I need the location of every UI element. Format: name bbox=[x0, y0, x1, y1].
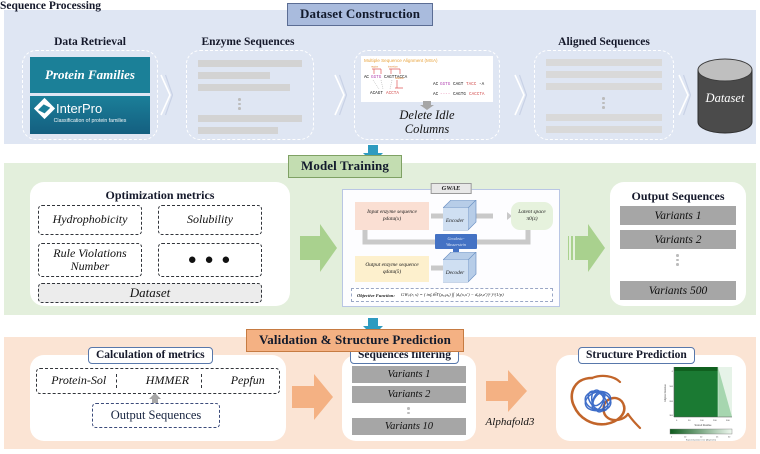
output-variant-chip[interactable]: Variants 500 bbox=[620, 281, 736, 300]
input-line2: pdata(x) bbox=[383, 216, 401, 223]
svg-text:0: 0 bbox=[671, 437, 673, 439]
svg-text:TACC: TACC bbox=[466, 82, 477, 87]
svg-text:Decoder: Decoder bbox=[445, 270, 465, 276]
objective-function-formula: GWₚ(r, s) = ( infᵣ∈Γ(μₓ,μᵩ) ∫∫ |dₓ(x,x′)… bbox=[401, 292, 504, 298]
svg-text:CAGT: CAGT bbox=[453, 82, 464, 87]
interpro-name: InterPro bbox=[56, 101, 102, 116]
filtered-variant-chip[interactable]: Variants 1 bbox=[352, 366, 466, 383]
svg-text:Aligned Residue: Aligned Residue bbox=[664, 384, 667, 402]
svg-text:AC: AC bbox=[433, 82, 439, 87]
title-calculation-of-metrics: Calculation of metrics bbox=[88, 347, 213, 364]
input-line1: Input enzyme sequence bbox=[367, 209, 417, 216]
diagram-canvas: Dataset Construction Data Retrieval Enzy… bbox=[0, 0, 760, 454]
svg-text:----: ---- bbox=[440, 92, 450, 97]
separator-chevron-2 bbox=[334, 72, 347, 118]
filtered-variant-chip[interactable]: Variants 2 bbox=[352, 386, 466, 403]
banner-validation-structure-prediction: Validation & Structure Prediction bbox=[246, 329, 464, 352]
svg-text:region: region bbox=[371, 64, 379, 68]
separator-chevron-4 bbox=[678, 72, 691, 118]
metric-solubility[interactable]: Solubility bbox=[158, 205, 262, 235]
filtered-variant-label: Variants 1 bbox=[388, 369, 431, 380]
title-structure-prediction: Structure Prediction bbox=[578, 347, 695, 364]
column-title-data-retrieval: Data Retrieval bbox=[28, 36, 152, 48]
dataset-cylinder: Dataset bbox=[696, 56, 754, 138]
svg-text:200: 200 bbox=[713, 420, 717, 422]
filtered-variant-chip[interactable]: Variants 10 bbox=[352, 418, 466, 435]
calculation-input-output-sequences[interactable]: Output Sequences bbox=[92, 403, 220, 428]
output-variant-chip[interactable]: Variants 1 bbox=[620, 206, 736, 225]
gw-line2: Wasserstein bbox=[446, 242, 466, 247]
output-line1: Output enzyme sequence bbox=[365, 262, 418, 269]
vertical-ellipsis-icon bbox=[238, 98, 241, 110]
tool-hmmer[interactable]: HMMER bbox=[146, 374, 202, 387]
svg-text:100: 100 bbox=[669, 386, 673, 388]
sequence-bar bbox=[198, 115, 302, 122]
banner-dataset-construction: Dataset Construction bbox=[287, 3, 433, 26]
svg-text:100: 100 bbox=[700, 420, 704, 422]
svg-text:0: 0 bbox=[676, 420, 678, 422]
svg-text:Encoder: Encoder bbox=[445, 218, 465, 224]
optimization-dataset-label: Dataset bbox=[130, 285, 170, 301]
green-block-arrow-right-icon-1 bbox=[300, 222, 338, 274]
filtered-variant-label: Variants 10 bbox=[385, 421, 433, 432]
delete-idle-columns-label: Delete Idle Columns bbox=[354, 108, 500, 137]
alphafold-tool-label: Alphafold3 bbox=[473, 416, 547, 428]
node-geodesic-wasserstein: Geodesic- Wasserstein bbox=[435, 234, 477, 249]
metric-hydrophobicity-label: Hydrophobicity bbox=[53, 213, 128, 226]
svg-text:CACCTA: CACCTA bbox=[469, 92, 485, 97]
aligned-bar bbox=[546, 59, 662, 66]
metric-hydrophobicity[interactable]: Hydrophobicity bbox=[38, 205, 142, 235]
output-variant-label: Variants 2 bbox=[655, 234, 702, 246]
svg-text:Expected position error (Angst: Expected position error (Angstroms) bbox=[686, 439, 717, 442]
logo-protein-families[interactable]: Protein Families bbox=[30, 57, 150, 93]
svg-text:GGTG: GGTG bbox=[371, 75, 382, 80]
aligned-bar bbox=[546, 83, 662, 90]
output-variant-label: Variants 1 bbox=[655, 210, 702, 222]
node-latent-space: Latent space π0(z) bbox=[511, 202, 553, 230]
metric-more-placeholder[interactable]: ● ● ● bbox=[158, 243, 262, 277]
orange-block-arrow-right-icon-1 bbox=[292, 372, 334, 422]
decoder-cube-icon: Decoder bbox=[443, 252, 477, 284]
column-title-aligned-sequences: Aligned Sequences bbox=[530, 36, 678, 48]
svg-text:insertion: insertion bbox=[388, 64, 398, 68]
metric-dots: ● ● ● bbox=[188, 252, 233, 269]
metric-rule-line2: Number bbox=[71, 260, 110, 273]
pae-heatmap-icon: 0 100 200 300 050 100200300 Scored Resid… bbox=[660, 363, 740, 441]
node-output-enzyme-sequence: Output enzyme sequence qdata(̂x) bbox=[355, 256, 429, 282]
vertical-ellipsis-icon bbox=[407, 407, 410, 414]
svg-text:CAGTG: CAGTG bbox=[453, 92, 466, 97]
svg-text:0: 0 bbox=[672, 371, 674, 373]
tool-pepfun[interactable]: Pepfun bbox=[231, 374, 265, 387]
separator-chevron-1 bbox=[160, 72, 173, 118]
output-variant-chip[interactable]: Variants 2 bbox=[620, 230, 736, 249]
title-output-sequences: Output Sequences bbox=[610, 189, 746, 204]
banner-model-training: Model Training bbox=[288, 155, 402, 178]
svg-text:200: 200 bbox=[669, 401, 673, 403]
objective-function-label: Objective Function: bbox=[357, 293, 395, 298]
interpro-diamond-icon bbox=[34, 98, 55, 119]
delete-idle-line1: Delete Idle bbox=[354, 108, 500, 122]
separator-chevron-3 bbox=[514, 72, 527, 118]
tool-protein-sol[interactable]: Protein-Sol bbox=[51, 374, 117, 387]
protein-families-label: Protein Families bbox=[45, 67, 135, 83]
sequence-bar bbox=[198, 72, 270, 79]
title-optimization-metrics: Optimization metrics bbox=[30, 188, 290, 203]
msa-illustration: Multiple Sequence Alignment (MSA) AC GGT… bbox=[361, 56, 493, 102]
svg-text:-A: -A bbox=[479, 82, 485, 87]
grey-up-arrow-icon bbox=[148, 393, 162, 403]
svg-text:deletion: deletion bbox=[395, 76, 405, 80]
svg-text:AC: AC bbox=[364, 75, 369, 80]
node-input-enzyme-sequence: Input enzyme sequence pdata(x) bbox=[355, 202, 429, 230]
svg-text:30: 30 bbox=[728, 437, 731, 439]
sequence-bar bbox=[198, 60, 302, 67]
svg-text:50: 50 bbox=[688, 420, 691, 422]
output-variant-label: Variants 500 bbox=[649, 285, 707, 297]
delete-idle-line2: Columns bbox=[354, 122, 500, 136]
svg-text:ACCTA: ACCTA bbox=[386, 91, 399, 96]
vertical-ellipsis-icon bbox=[676, 254, 679, 266]
latent-line1: Latent space bbox=[518, 209, 545, 216]
svg-text:ACAGT: ACAGT bbox=[370, 91, 383, 96]
latent-line2: π0(z) bbox=[526, 216, 537, 223]
filtered-variant-label: Variants 2 bbox=[388, 389, 431, 400]
svg-text:300: 300 bbox=[726, 420, 730, 422]
svg-text:25: 25 bbox=[716, 437, 719, 439]
logo-interpro[interactable]: InterPro Classification of protein famil… bbox=[30, 96, 150, 134]
objective-function-row: Objective Function: GWₚ(r, s) = ( infᵣ∈Γ… bbox=[351, 288, 553, 302]
metrics-tools-group: Protein-Sol HMMER Pepfun bbox=[36, 368, 280, 394]
gwae-model-diagram: GWAE Input enzyme sequence pdata(x) Enco… bbox=[342, 189, 560, 307]
svg-text:300: 300 bbox=[669, 415, 673, 417]
green-block-arrow-right-icon-2 bbox=[568, 222, 606, 274]
orange-block-arrow-right-icon-2 bbox=[486, 368, 528, 414]
dataset-cylinder-label: Dataset bbox=[705, 91, 745, 105]
metric-solubility-label: Solubility bbox=[187, 213, 233, 226]
svg-text:10: 10 bbox=[684, 437, 687, 439]
msa-alignment-graphic: AC GGTG CAGTTACCA ACAGT ACCTA region ins… bbox=[361, 63, 493, 99]
optimization-dataset-input[interactable]: Dataset bbox=[38, 283, 262, 303]
vertical-ellipsis-icon bbox=[602, 97, 605, 109]
column-title-enzyme-sequences: Enzyme Sequences bbox=[178, 36, 318, 48]
svg-text:GGTG: GGTG bbox=[440, 82, 451, 87]
column-title-sequence-processing: Sequence Processing bbox=[0, 0, 101, 12]
svg-text:20: 20 bbox=[700, 437, 703, 439]
interpro-tagline: Classification of protein families bbox=[30, 118, 150, 124]
svg-text:AC: AC bbox=[433, 92, 439, 97]
svg-text:Scored Residue: Scored Residue bbox=[694, 424, 712, 427]
aligned-bar bbox=[546, 126, 662, 133]
aligned-bar bbox=[546, 114, 662, 121]
sequence-bar bbox=[198, 127, 278, 134]
calculation-input-label: Output Sequences bbox=[111, 408, 202, 423]
protein-ribbon-icon bbox=[562, 368, 648, 438]
aligned-bar bbox=[546, 71, 662, 78]
metric-rule-violations-number[interactable]: Rule Violations Number bbox=[38, 243, 142, 277]
output-line2: qdata(̂x) bbox=[383, 269, 401, 276]
encoder-cube-icon: Encoder bbox=[443, 200, 477, 232]
sequence-bar bbox=[198, 84, 290, 91]
